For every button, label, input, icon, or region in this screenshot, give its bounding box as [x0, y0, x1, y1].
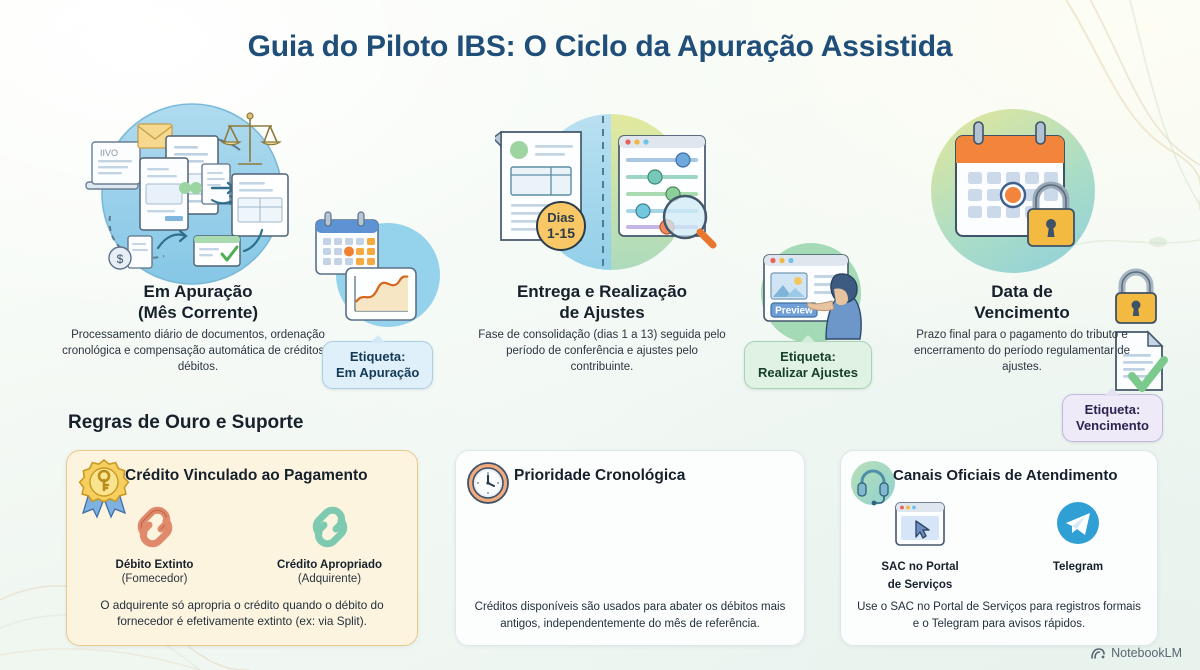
documents-workflow-circle-icon: IIVO $ [72, 96, 312, 291]
section-heading: Regras de Ouro e Suporte [68, 412, 303, 434]
svg-text:IIVO: IIVO [100, 148, 118, 158]
card-3-item-1-sublabel: de Serviços [841, 578, 999, 592]
telegram-icon [1051, 499, 1105, 551]
card-3-item-2-label: Telegram [999, 560, 1157, 574]
tag-1-label: Etiqueta: [336, 349, 419, 365]
card-1-item-2-sublabel: (Adquirente) [242, 572, 417, 586]
step-3: Data de Vencimento Prazo final para o pa… [898, 282, 1146, 376]
card-3-item-1-label: SAC no Portal [841, 560, 999, 574]
split-circle-document-sliders-icon: Dias 1-15 [495, 112, 727, 277]
days-badge-line2: 1-15 [547, 225, 575, 241]
tag-2-label: Etiqueta: [758, 349, 858, 365]
preview-person-icon: Preview [748, 243, 874, 347]
step-1-title-line2: (Mês Corrente) [138, 303, 258, 322]
card-canais-oficiais: Canais Oficiais de Atendimento SAC no Po… [840, 450, 1158, 646]
step-3-title-line2: Vencimento [974, 303, 1069, 322]
step-2-title-line2: de Ajustes [559, 303, 644, 322]
step-1-title: Em Apuração (Mês Corrente) [48, 282, 348, 323]
calendar-lock-circle-icon [918, 106, 1108, 281]
step-2-description: Fase de consolidação (dias 1 a 13) segui… [478, 328, 726, 376]
card-1-item-1-sublabel: (Fomecedor) [67, 572, 242, 586]
page-title: Guia do Piloto IBS: O Ciclo da Apuração … [0, 30, 1200, 64]
tag-em-apuracao: Etiqueta: Em Apuração [322, 341, 433, 389]
card-1-footer: O adquirente só apropria o crédito quand… [79, 597, 405, 631]
tag-vencimento: Etiqueta: Vencimento [1062, 394, 1163, 442]
card-2-footer: Créditos disponíveis são usados para aba… [468, 599, 792, 632]
step-3-title: Data de Vencimento [898, 282, 1146, 323]
chain-link-green-icon [307, 505, 353, 549]
step-1-description: Processamento diário de documentos, orde… [48, 328, 348, 376]
card-3-footer: Use o SAC no Portal de Serviços para reg… [853, 599, 1145, 632]
tag-3-label: Etiqueta: [1076, 402, 1149, 418]
card-prioridade-cronologica: Prioridade Cronológica Créditos disponív… [455, 450, 805, 646]
card-3-title: Canais Oficiais de Atendimento [893, 467, 1118, 484]
browser-cursor-icon [889, 499, 951, 551]
step-2-title: Entrega e Realização de Ajustes [478, 282, 726, 323]
card-1-item-1-label: Débito Extinto [67, 558, 242, 572]
tag-2-value: Realizar Ajustes [758, 365, 858, 381]
step-1: Em Apuração (Mês Corrente) Processamento… [48, 282, 348, 376]
card-2-title: Prioridade Cronológica [514, 467, 685, 485]
card-credito-vinculado: Crédito Vinculado ao Pagamento Débito Ex… [66, 450, 418, 646]
card-3-item-1: SAC no Portal de Serviços [841, 499, 999, 593]
step-3-description: Prazo final para o pagamento do tributo … [898, 328, 1146, 376]
tag-realizar-ajustes: Etiqueta: Realizar Ajustes [744, 341, 872, 389]
watermark: NotebookLM [1091, 646, 1182, 660]
svg-text:$: $ [117, 252, 124, 266]
days-badge-line1: Dias [547, 210, 574, 225]
card-3-item-2: Telegram [999, 499, 1157, 593]
tag-3-value: Vencimento [1076, 418, 1149, 434]
step-2-title-line1: Entrega e Realização [517, 282, 687, 301]
preview-button-label: Preview [775, 306, 813, 317]
step-2: Entrega e Realização de Ajustes Fase de … [478, 282, 726, 376]
notebooklm-logo-icon [1091, 647, 1106, 660]
card-1-item-1: Débito Extinto (Fomecedor) [67, 505, 242, 587]
card-1-items: Débito Extinto (Fomecedor) Crédito Aprop… [67, 505, 417, 587]
watermark-label: NotebookLM [1111, 646, 1182, 660]
step-3-title-line1: Data de [991, 282, 1052, 301]
clock-icon [466, 461, 510, 505]
broken-chain-link-red-icon [132, 505, 178, 549]
card-1-item-2: Crédito Apropriado (Adquirente) [242, 505, 417, 587]
card-1-title: Crédito Vinculado ao Pagamento [125, 467, 368, 485]
card-1-item-2-label: Crédito Apropriado [242, 558, 417, 572]
tag-1-value: Em Apuração [336, 365, 419, 381]
card-3-items: SAC no Portal de Serviços Telegram [841, 499, 1157, 593]
step-1-title-line1: Em Apuração [144, 282, 253, 301]
